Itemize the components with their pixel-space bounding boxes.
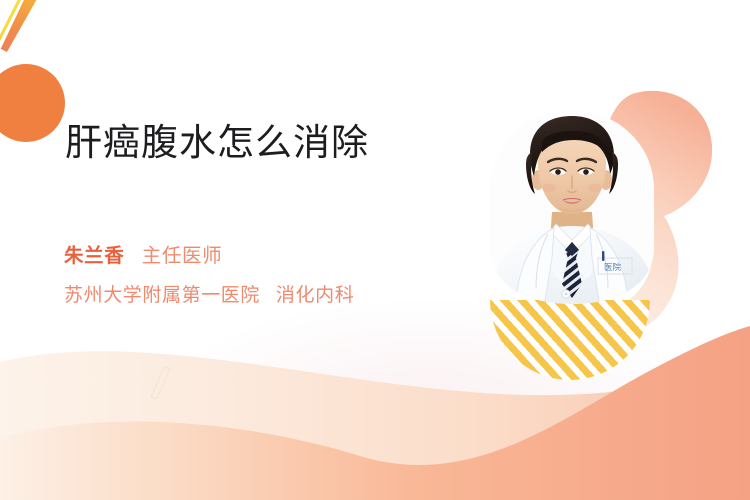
doctor-identity-line: 朱兰香 主任医师 [64,243,222,271]
doctor-affiliation-line: 苏州大学附属第一医院 消化内科 [64,283,354,309]
doctor-hospital: 苏州大学附属第一医院 [64,285,260,306]
orange-circle-decoration [0,64,65,142]
doctor-title: 主任医师 [142,245,222,267]
coat-logo-text: 医院 [604,262,622,272]
doctor-photo: 医院 [486,108,658,306]
doctor-department: 消化内科 [276,285,354,306]
banner-canvas: 肝癌腹水怎么消除 朱兰香 主任医师 苏州大学附属第一医院 消化内科 [0,0,750,500]
doctor-portrait-group: 医院 [468,108,683,358]
doctor-name: 朱兰香 [64,245,124,267]
faint-diagonal-stripe-decoration [150,366,170,400]
page-title: 肝癌腹水怎么消除 [65,120,369,166]
